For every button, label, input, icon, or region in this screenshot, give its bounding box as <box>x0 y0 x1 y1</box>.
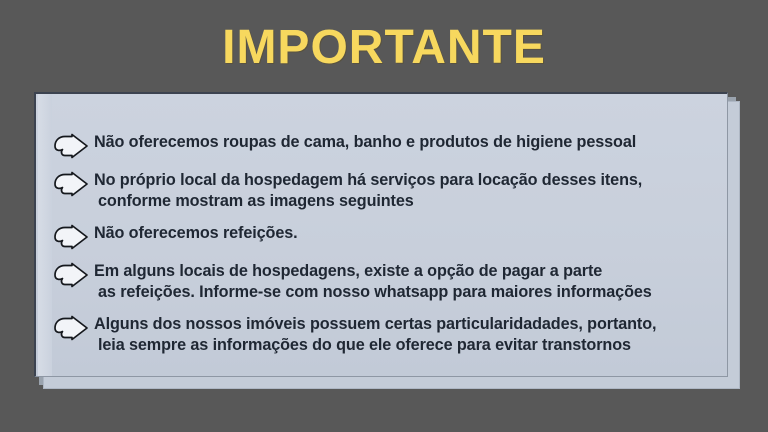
list-item-line-1: Não oferecemos refeições. <box>94 224 298 242</box>
list-item-text: No próprio local da hospedagem há serviç… <box>94 170 721 212</box>
list-item-line-1: No próprio local da hospedagem há serviç… <box>94 171 642 189</box>
list-item-text: Não oferecemos refeições. <box>94 223 721 244</box>
list-item-line-1: Alguns dos nossos imóveis possuem certas… <box>94 315 656 333</box>
list-item-line-2: conforme mostram as imagens seguintes <box>98 191 721 212</box>
block-arrow-right-icon <box>52 262 90 288</box>
list-item-line-1: Não oferecemos roupas de cama, banho e p… <box>94 133 636 151</box>
list-item-line-1: Em alguns locais de hospedagens, existe … <box>94 262 602 280</box>
bullet-list: Não oferecemos roupas de cama, banho e p… <box>52 132 721 356</box>
list-item: No próprio local da hospedagem há serviç… <box>52 170 721 212</box>
list-item-text: Em alguns locais de hospedagens, existe … <box>94 261 721 303</box>
list-item-line-2: leia sempre as informações do que ele of… <box>98 335 721 356</box>
list-item-line-2: as refeições. Informe-se com nosso whats… <box>98 282 721 303</box>
list-item: Não oferecemos roupas de cama, banho e p… <box>52 132 721 159</box>
list-item: Alguns dos nossos imóveis possuem certas… <box>52 314 721 356</box>
block-arrow-right-icon <box>52 224 90 250</box>
list-item-text: Não oferecemos roupas de cama, banho e p… <box>94 132 721 153</box>
list-item: Em alguns locais de hospedagens, existe … <box>52 261 721 303</box>
list-item-text: Alguns dos nossos imóveis possuem certas… <box>94 314 721 356</box>
block-arrow-right-icon <box>52 315 90 341</box>
block-arrow-right-icon <box>52 171 90 197</box>
list-item: Não oferecemos refeições. <box>52 223 721 250</box>
page-title: IMPORTANTE <box>0 22 768 74</box>
content-card: Não oferecemos roupas de cama, banho e p… <box>34 92 728 377</box>
content-card-stack: Não oferecemos roupas de cama, banho e p… <box>34 92 738 384</box>
block-arrow-right-icon <box>52 133 90 159</box>
slide-canvas: IMPORTANTE Não oferecemos roupas de cama… <box>0 0 768 432</box>
